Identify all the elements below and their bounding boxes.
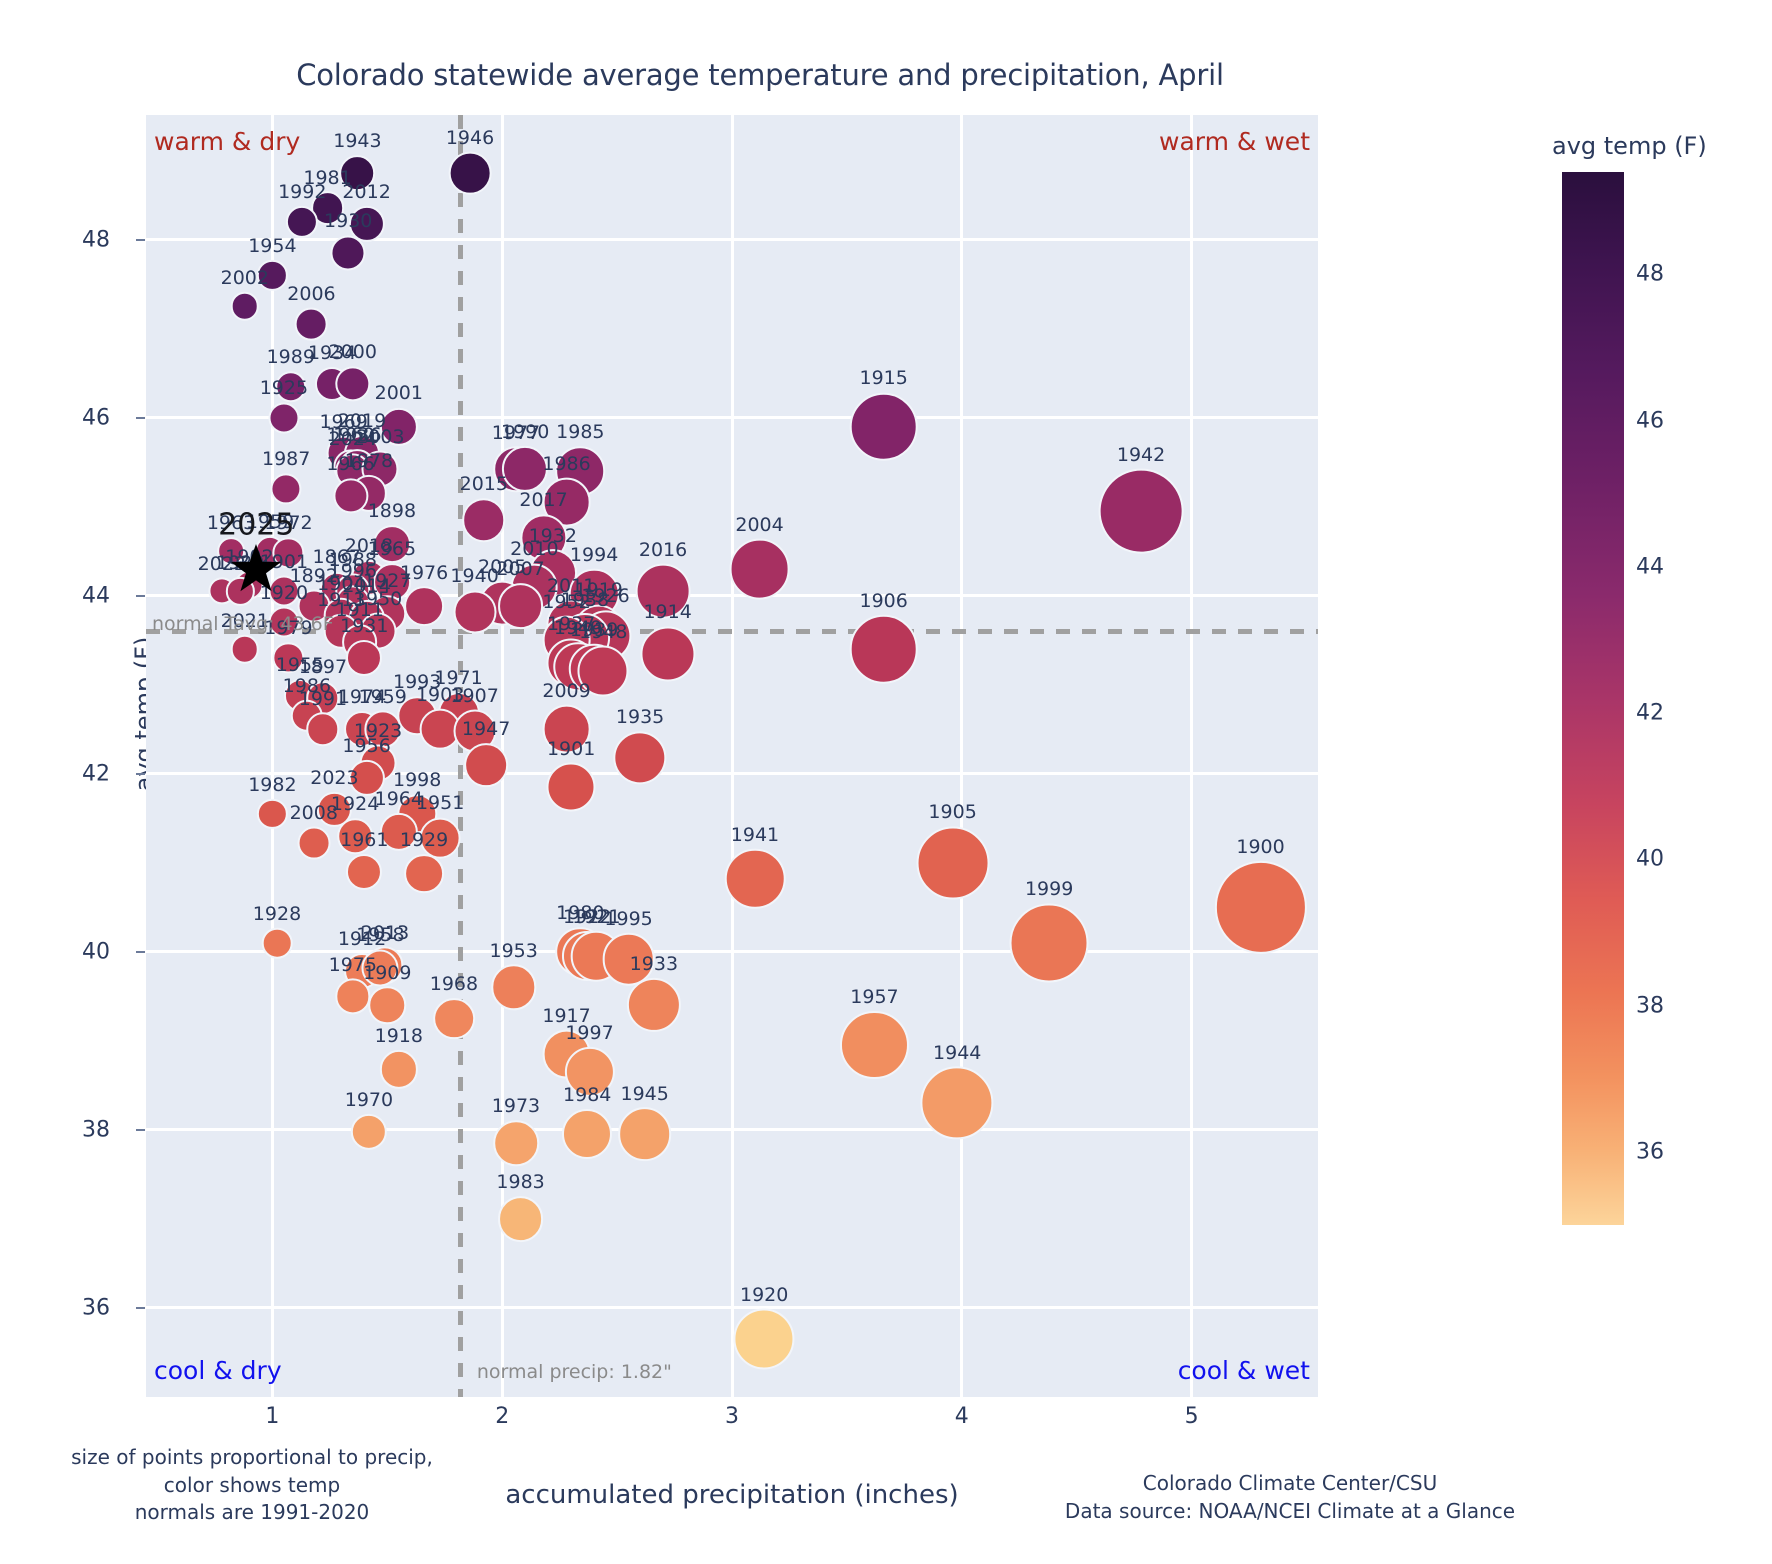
- quadrant-label-warm-wet: warm & wet: [1159, 127, 1310, 156]
- x-axis-tick-label: 3: [725, 1404, 739, 1429]
- normal-precip-line: [458, 115, 463, 1397]
- data-point[interactable]: [840, 1011, 908, 1079]
- colorbar: [1562, 172, 1624, 1225]
- colorbar-tick-label: 40: [1636, 847, 1664, 872]
- data-point[interactable]: [231, 292, 260, 321]
- data-point[interactable]: [404, 854, 444, 894]
- x-axis-tick-label: 1: [265, 1404, 279, 1429]
- data-point-label: 1906: [859, 590, 907, 612]
- data-point-label: 2000: [329, 341, 377, 363]
- data-point[interactable]: [627, 978, 681, 1032]
- data-point[interactable]: [268, 402, 299, 433]
- data-point-label: 1961: [340, 829, 388, 851]
- data-point[interactable]: [449, 152, 492, 195]
- quadrant-label-cool-wet: cool & wet: [1178, 1356, 1310, 1385]
- y-axis-tick-mark: [136, 239, 145, 241]
- colorbar-tick-label: 36: [1636, 1139, 1664, 1164]
- scatter-plot-area: 1943194619811992201219301954200220061989…: [146, 115, 1318, 1397]
- data-point-label: 2012: [342, 181, 390, 203]
- data-point-label: 1909: [363, 962, 411, 984]
- footnote-left: size of points proportional to precip, c…: [62, 1444, 442, 1527]
- data-point-label: 1952: [542, 591, 590, 613]
- y-axis-tick-mark: [136, 595, 145, 597]
- data-point[interactable]: [729, 539, 790, 600]
- data-point-label: 1994: [570, 544, 618, 566]
- data-point-label: 2017: [519, 489, 567, 511]
- data-point[interactable]: [271, 473, 302, 504]
- x-axis-tick-label: 4: [955, 1404, 969, 1429]
- data-point-label: 1930: [324, 210, 372, 232]
- data-point-label: 2016: [639, 539, 687, 561]
- y-axis-tick-label: 48: [82, 227, 110, 252]
- data-point-label: 1997: [565, 1022, 613, 1044]
- data-point[interactable]: [849, 392, 918, 461]
- data-point-label: 2003: [356, 426, 404, 448]
- data-point[interactable]: [404, 587, 444, 627]
- data-point-label: 2023: [310, 767, 358, 789]
- data-point[interactable]: [916, 826, 989, 899]
- data-point[interactable]: [335, 979, 370, 1014]
- y-axis-tick-mark: [136, 773, 145, 775]
- data-point-label: 1948: [579, 621, 627, 643]
- data-point-label: 1933: [630, 953, 678, 975]
- data-point-label: 1983: [496, 1171, 544, 1193]
- gridline-vertical: [271, 115, 274, 1397]
- y-axis-tick-label: 36: [82, 1295, 110, 1320]
- data-point[interactable]: [498, 1196, 544, 1242]
- data-point[interactable]: [351, 1114, 387, 1150]
- normal-precip-label: normal precip: 1.82": [477, 1361, 672, 1383]
- data-point-label: 1957: [850, 986, 898, 1008]
- data-point[interactable]: [547, 763, 596, 812]
- gridline-horizontal: [146, 1306, 1318, 1309]
- data-point[interactable]: [734, 1309, 795, 1370]
- data-point-label: 1931: [340, 615, 388, 637]
- data-point-label: 1953: [489, 940, 537, 962]
- data-point[interactable]: [262, 928, 293, 959]
- y-axis-tick-mark: [136, 417, 145, 419]
- footnote-right-line1: Colorado Climate Center/CSU: [1010, 1470, 1570, 1498]
- data-point[interactable]: [921, 1067, 994, 1140]
- footnote-left-line3: normals are 1991-2020: [62, 1499, 442, 1527]
- y-axis-tick-mark: [136, 1129, 145, 1131]
- data-point[interactable]: [725, 849, 786, 910]
- data-point-label: 1968: [430, 973, 478, 995]
- data-point-label: 1940: [450, 565, 498, 587]
- data-point-label: 2007: [496, 558, 544, 580]
- y-axis-tick-mark: [136, 1307, 145, 1309]
- data-point-label: 1935: [616, 706, 664, 728]
- data-point-label: 1943: [333, 130, 381, 152]
- footnote-left-line2: color shows temp: [62, 1472, 442, 1500]
- data-point[interactable]: [498, 583, 544, 629]
- data-point-label: 1907: [450, 685, 498, 707]
- data-point-label: 2001: [375, 382, 423, 404]
- data-point-label: 1924: [331, 793, 379, 815]
- data-point-label: 1951: [416, 792, 464, 814]
- data-point-label: 1956: [342, 735, 390, 757]
- x-axis-tick-label: 5: [1185, 1404, 1199, 1429]
- data-point[interactable]: [257, 799, 287, 829]
- data-point[interactable]: [1099, 469, 1184, 554]
- data-point[interactable]: [306, 713, 339, 746]
- y-axis-tick-mark: [136, 951, 145, 953]
- footnote-left-line1: size of points proportional to precip,: [62, 1444, 442, 1472]
- colorbar-tick-label: 38: [1636, 993, 1664, 1018]
- data-point-label: 1959: [359, 686, 407, 708]
- data-point-label: 2004: [735, 514, 783, 536]
- data-point-label: 1954: [248, 235, 296, 257]
- data-point-label: 1958: [356, 924, 404, 946]
- data-point[interactable]: [562, 1109, 612, 1159]
- y-axis-tick-label: 42: [82, 761, 110, 786]
- data-point[interactable]: [464, 743, 508, 787]
- y-axis-tick-label: 40: [82, 939, 110, 964]
- page-title: Colorado statewide average temperature a…: [0, 58, 1520, 92]
- data-point[interactable]: [433, 998, 475, 1040]
- data-point[interactable]: [231, 635, 260, 664]
- data-point[interactable]: [331, 235, 366, 270]
- colorbar-title: avg temp (F): [1552, 132, 1707, 160]
- y-axis-tick-label: 44: [82, 583, 110, 608]
- data-point[interactable]: [613, 731, 666, 784]
- data-point[interactable]: [369, 987, 407, 1025]
- data-point-label: 1905: [928, 801, 976, 823]
- data-point-label: 1900: [1236, 836, 1284, 858]
- data-point-label: 1946: [446, 127, 494, 149]
- data-point-label: 1920: [740, 1284, 788, 1306]
- data-point[interactable]: [346, 640, 382, 676]
- gridline-vertical: [731, 115, 734, 1397]
- data-point[interactable]: [1010, 903, 1089, 982]
- data-point[interactable]: [849, 615, 918, 684]
- colorbar-tick-label: 46: [1636, 408, 1664, 433]
- data-point[interactable]: [502, 446, 548, 492]
- colorbar-tick-label: 48: [1636, 262, 1664, 287]
- data-point-label: 2002: [221, 267, 269, 289]
- data-point-label: 1966: [326, 453, 374, 475]
- colorbar-tick-label: 42: [1636, 701, 1664, 726]
- data-point-label: 1999: [1025, 878, 1073, 900]
- data-point-label: 2015: [460, 473, 508, 495]
- data-point-label: 1973: [492, 1095, 540, 1117]
- highlight-star-label: 2025: [218, 508, 294, 543]
- data-point-label: 1990: [501, 421, 549, 443]
- data-point-label: 1985: [556, 421, 604, 443]
- data-point-label: 1942: [1117, 444, 1165, 466]
- gridline-vertical: [960, 115, 963, 1397]
- gridline-horizontal: [146, 950, 1318, 953]
- data-point-label: 1928: [253, 903, 301, 925]
- data-point[interactable]: [286, 206, 318, 238]
- data-point-label: 1970: [345, 1089, 393, 1111]
- data-point[interactable]: [346, 854, 382, 890]
- data-point-label: 1992: [278, 181, 326, 203]
- data-point[interactable]: [297, 827, 330, 860]
- gridline-horizontal: [146, 1128, 1318, 1131]
- data-point[interactable]: [380, 1050, 418, 1088]
- data-point-label: 1945: [620, 1083, 668, 1105]
- data-point[interactable]: [618, 1108, 672, 1162]
- quadrant-label-warm-dry: warm & dry: [154, 127, 300, 156]
- data-point-label: 1982: [248, 774, 296, 796]
- data-point[interactable]: [335, 366, 370, 401]
- data-point-label: 1918: [375, 1025, 423, 1047]
- data-point[interactable]: [491, 965, 536, 1010]
- data-point-label: 1898: [368, 500, 416, 522]
- x-axis-tick-label: 2: [495, 1404, 509, 1429]
- data-point-label: 1995: [604, 908, 652, 930]
- footnote-right: Colorado Climate Center/CSU Data source:…: [1010, 1470, 1570, 1525]
- colorbar-tick-label: 44: [1636, 554, 1664, 579]
- data-point[interactable]: [462, 498, 506, 542]
- data-point[interactable]: [295, 308, 328, 341]
- data-point-label: 1901: [547, 738, 595, 760]
- gridline-horizontal: [146, 238, 1318, 241]
- gridline-vertical: [1190, 115, 1193, 1397]
- data-point-label: 1947: [462, 718, 510, 740]
- data-point[interactable]: [453, 590, 496, 633]
- highlight-star-marker: [229, 542, 283, 596]
- data-point-label: 1987: [262, 448, 310, 470]
- data-point-label: 1986: [542, 453, 590, 475]
- y-axis-tick-label: 46: [82, 405, 110, 430]
- normal-temp-label: normal Tavg: 43.6F: [152, 613, 334, 635]
- data-point[interactable]: [1214, 861, 1306, 953]
- data-point-label: 1984: [563, 1084, 611, 1106]
- data-point[interactable]: [640, 626, 695, 681]
- quadrant-label-cool-dry: cool & dry: [154, 1356, 282, 1385]
- data-point-label: 1915: [859, 367, 907, 389]
- data-point-label: 2009: [542, 680, 590, 702]
- data-point-label: 1929: [400, 829, 448, 851]
- data-point[interactable]: [493, 1120, 539, 1166]
- data-point-label: 2006: [287, 283, 335, 305]
- data-point-label: 1941: [731, 824, 779, 846]
- footnote-right-line2: Data source: NOAA/NCEI Climate at a Glan…: [1010, 1498, 1570, 1526]
- data-point-label: 1925: [260, 377, 308, 399]
- y-axis-tick-label: 38: [82, 1117, 110, 1142]
- data-point-label: 1914: [643, 601, 691, 623]
- data-point-label: 1944: [933, 1042, 981, 1064]
